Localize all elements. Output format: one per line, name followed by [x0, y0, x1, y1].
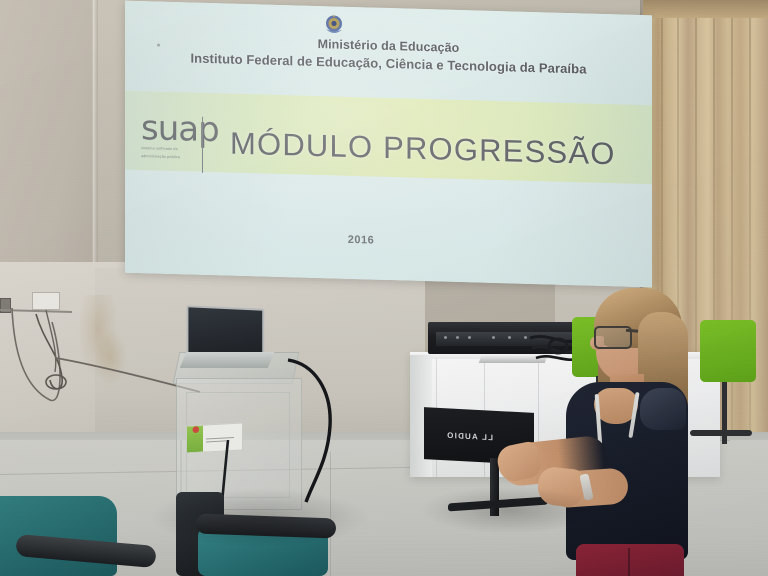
brazil-coat-of-arms-icon: [323, 12, 345, 39]
laptop-power-cable: [284, 356, 356, 506]
slide-year-value: 2016: [348, 234, 374, 247]
slide-band-bottom: [125, 169, 652, 287]
suap-wordmark: suap: [141, 113, 221, 145]
trousers-seam: [628, 548, 630, 576]
curtain-rail: [643, 0, 768, 18]
wall-column-edge: [93, 0, 98, 300]
presenter-sheer-shoulder-panel: [640, 388, 686, 430]
projection-screen: Ministério da Educação Instituto Federal…: [125, 1, 652, 288]
foreground-teal-chair: [0, 496, 117, 576]
suap-logo: suap sistema unificado de administração …: [141, 113, 221, 161]
presenter-right-hand: [536, 466, 586, 509]
projected-slide: Ministério da Educação Instituto Federal…: [125, 1, 652, 288]
photo-scene: Ministério da Educação Instituto Federal…: [0, 0, 768, 576]
presenter-trousers: [576, 544, 684, 576]
suap-logo-rule: [202, 117, 203, 173]
laptop-keyboard-base: [180, 352, 274, 368]
presenter: [498, 282, 728, 576]
placard-logo-icon: [187, 426, 203, 453]
